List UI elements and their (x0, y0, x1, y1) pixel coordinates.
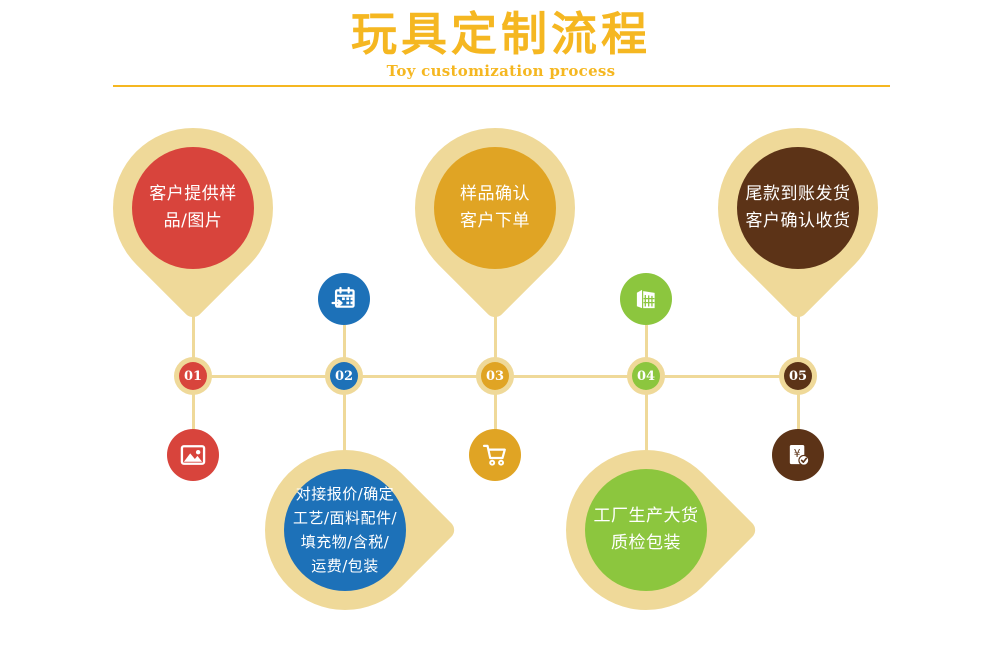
payment-receipt-icon: ¥ (784, 441, 812, 469)
step-pin-04: 工厂生产大货 质检包装 (566, 450, 726, 610)
stalk-pin-05 (797, 288, 800, 358)
calendar-schedule-icon (330, 285, 358, 313)
step-marker-05[interactable]: 05 (779, 357, 817, 395)
step-label-line: 品/图片 (164, 211, 223, 231)
step-icon-02[interactable] (318, 273, 370, 325)
step-number-02: 02 (330, 362, 358, 390)
step-icon-04[interactable] (620, 273, 672, 325)
step-label-line: 运费/包装 (311, 557, 379, 575)
step-label-03: 样品确认 客户下单 (434, 147, 556, 269)
step-label-line: 对接报价/确定 (296, 485, 395, 503)
step-label-04: 工厂生产大货 质检包装 (585, 469, 707, 591)
stalk-pin-04 (645, 394, 648, 456)
step-label-line: 质检包装 (611, 533, 681, 553)
step-label-01: 客户提供样 品/图片 (132, 147, 254, 269)
page-subtitle: Toy customization process (0, 62, 1002, 80)
shopping-cart-icon (481, 441, 509, 469)
step-label-02: 对接报价/确定 工艺/面料配件/ 填充物/含税/ 运费/包装 (284, 469, 406, 591)
step-label-line: 填充物/含税/ (301, 533, 390, 551)
stalk-icon-05 (797, 394, 800, 432)
step-number-05: 05 (784, 362, 812, 390)
step-number-03: 03 (481, 362, 509, 390)
step-marker-04[interactable]: 04 (627, 357, 665, 395)
step-label-line: 工厂生产大货 (594, 506, 699, 526)
step-label-line: 客户确认收货 (746, 211, 851, 231)
step-pin-02: 对接报价/确定 工艺/面料配件/ 填充物/含税/ 运费/包装 (265, 450, 425, 610)
step-number-04: 04 (632, 362, 660, 390)
page-title: 玩具定制流程 (0, 8, 1002, 60)
step-icon-05[interactable]: ¥ (772, 429, 824, 481)
stalk-pin-01 (192, 288, 195, 358)
stalk-icon-03 (494, 394, 497, 432)
step-pin-01: 客户提供样 品/图片 (113, 128, 273, 288)
step-number-01: 01 (179, 362, 207, 390)
step-marker-02[interactable]: 02 (325, 357, 363, 395)
stalk-icon-01 (192, 394, 195, 432)
step-label-line: 样品确认 (460, 184, 530, 204)
header-divider (113, 85, 890, 87)
header: 玩具定制流程 Toy customization process (0, 0, 1002, 92)
step-marker-03[interactable]: 03 (476, 357, 514, 395)
stalk-pin-02 (343, 394, 346, 456)
step-label-05: 尾款到账发货 客户确认收货 (737, 147, 859, 269)
stalk-icon-02 (343, 325, 346, 359)
stalk-pin-03 (494, 288, 497, 358)
step-pin-03: 样品确认 客户下单 (415, 128, 575, 288)
step-pin-05: 尾款到账发货 客户确认收货 (718, 128, 878, 288)
infographic-canvas: 玩具定制流程 Toy customization process 客户提供样 品… (0, 0, 1002, 672)
step-icon-01[interactable] (167, 429, 219, 481)
step-label-line: 客户下单 (460, 211, 530, 231)
step-label-line: 尾款到账发货 (746, 184, 851, 204)
step-icon-03[interactable] (469, 429, 521, 481)
stalk-icon-04 (645, 325, 648, 359)
step-marker-01[interactable]: 01 (174, 357, 212, 395)
step-label-line: 工艺/面料配件/ (293, 509, 397, 527)
factory-icon (632, 285, 660, 313)
image-icon (179, 441, 207, 469)
step-label-line: 客户提供样 (149, 184, 237, 204)
